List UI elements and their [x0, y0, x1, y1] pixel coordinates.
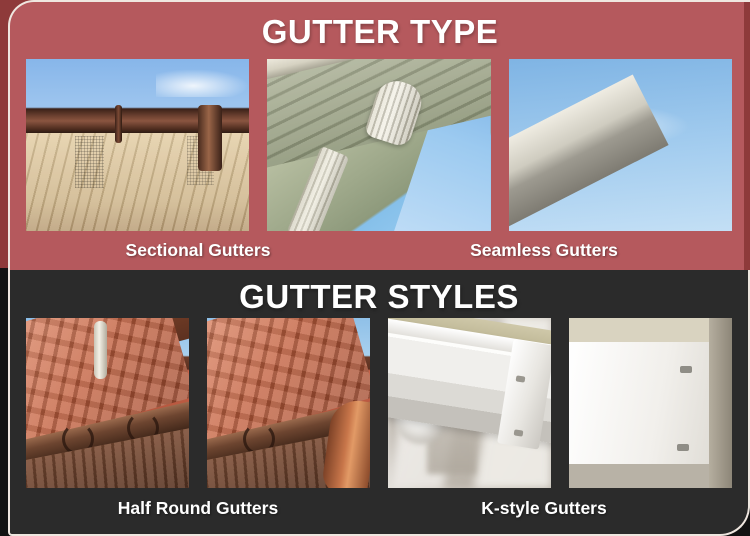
- gutter-screw-shape: [516, 375, 526, 382]
- gutter-styles-photo-row: [26, 318, 732, 488]
- caption-half-round-gutters: Half Round Gutters: [26, 498, 370, 519]
- half-round-gutter-photo-continuation: [207, 318, 370, 488]
- section-title-gutter-type: GUTTER TYPE: [10, 13, 750, 51]
- gutter-face-shape: [569, 342, 719, 464]
- caption-k-style-gutters: K-style Gutters: [372, 498, 716, 519]
- caption-seamless-gutters: Seamless Gutters: [372, 240, 716, 261]
- gutter-screw-shape-2: [677, 444, 689, 451]
- k-style-gutter-photo-continuation: [569, 318, 732, 488]
- gutter-screw-shape: [680, 366, 692, 373]
- soffit-vent-shape: [75, 136, 104, 188]
- gutter-strap-shape: [115, 105, 122, 143]
- gutter-infographic: GUTTER TYPE: [0, 0, 750, 536]
- sectional-gutter-photo: [26, 59, 249, 231]
- section-gutter-styles: GUTTER STYLES: [8, 270, 750, 536]
- k-style-gutter-photo: [388, 318, 551, 488]
- section-title-gutter-styles: GUTTER STYLES: [10, 278, 748, 316]
- half-round-gutter-photo: [26, 318, 189, 488]
- gutter-type-photo-row: [26, 59, 732, 231]
- roof-edge-shape: [509, 74, 670, 231]
- vent-pipe-shape: [94, 321, 107, 379]
- cloud-shape: [156, 69, 250, 97]
- seamless-gutter-photo-sky-continuation: [509, 59, 732, 231]
- gutter-edge-shape: [709, 318, 732, 488]
- seamless-gutter-photo: [267, 59, 490, 231]
- downspout-shape: [198, 105, 222, 170]
- section-gutter-type: GUTTER TYPE: [8, 0, 750, 270]
- caption-sectional-gutters: Sectional Gutters: [26, 240, 370, 261]
